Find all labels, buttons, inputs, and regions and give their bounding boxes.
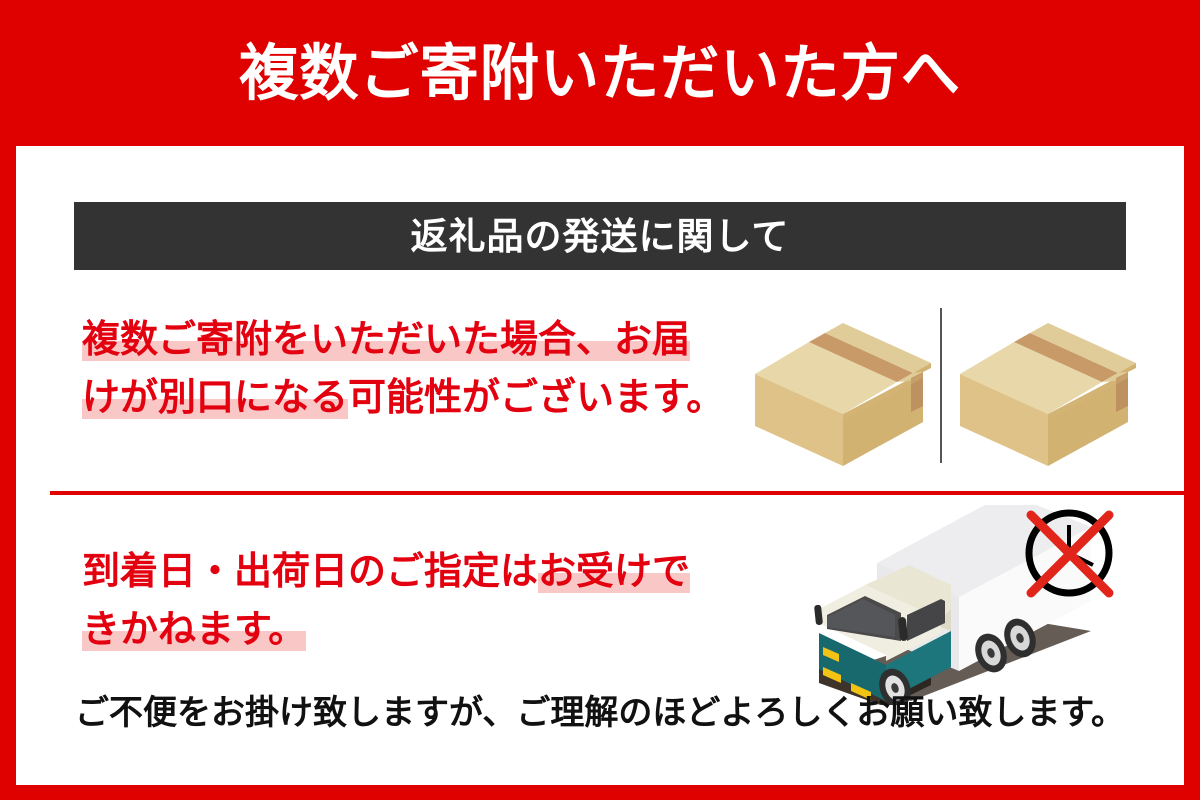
- cardboard-box-icon: [751, 310, 936, 470]
- boxes-divider: [940, 308, 942, 463]
- highlighted-text: きかねます。: [82, 609, 306, 651]
- plain-text: 可能性がございます。: [348, 377, 724, 419]
- content-frame: 返礼品の発送に関して 複数ご寄附をいただいた場合、お届 けが別口になる可能性がご…: [16, 146, 1184, 785]
- section-delivery-date: 到着日・出荷日のご指定はお受けで きかねます。: [16, 495, 1184, 785]
- body-line: 到着日・出荷日のご指定はお受けで: [82, 543, 742, 601]
- page-title: 複数ご寄附いただいた方へ: [239, 43, 961, 104]
- plain-text: 到着日・出荷日のご指定は: [82, 551, 538, 593]
- section-one-body: 複数ご寄附をいただいた場合、お届 けが別口になる可能性がございます。: [82, 311, 742, 427]
- section-two-body: 到着日・出荷日のご指定はお受けで きかねます。: [82, 543, 742, 659]
- truck-illustration: [791, 505, 1131, 705]
- section-heading-banner: 返礼品の発送に関して: [74, 202, 1126, 270]
- cardboard-box-icon: [956, 310, 1141, 470]
- closing-note: ご不便をお掛け致しますが、ご理解のほどよろしくお願い致します。: [16, 693, 1184, 734]
- cardboard-boxes-illustration: [751, 296, 1161, 481]
- highlighted-text: けが別口になる: [82, 377, 348, 419]
- notice-poster: 複数ご寄附いただいた方へ 返礼品の発送に関して 複数ご寄附をいただいた場合、お届…: [0, 0, 1200, 800]
- body-line: 複数ご寄附をいただいた場合、お届: [82, 311, 742, 369]
- header-band: 複数ご寄附いただいた方へ: [0, 0, 1200, 146]
- body-line: きかねます。: [82, 601, 742, 659]
- section-shipping-info: 返礼品の発送に関して 複数ご寄附をいただいた場合、お届 けが別口になる可能性がご…: [16, 146, 1184, 493]
- body-line: けが別口になる可能性がございます。: [82, 369, 742, 427]
- highlighted-text: 複数ご寄附をいただいた場合、お届: [82, 319, 690, 361]
- section-heading-text: 返礼品の発送に関して: [411, 218, 790, 255]
- delivery-truck-icon: [791, 505, 1131, 705]
- highlighted-text: お受けで: [538, 551, 690, 593]
